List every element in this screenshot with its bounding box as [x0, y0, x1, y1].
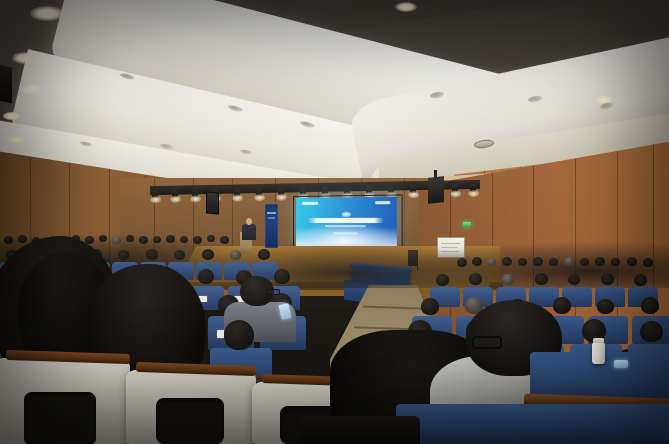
line-array-speaker-right — [428, 176, 444, 204]
ceiling-downlight — [30, 6, 64, 21]
foreground-seat-cutout — [156, 398, 224, 444]
ceiling-downlight — [395, 2, 417, 12]
ceiling-projector-box — [0, 65, 12, 104]
ceiling-downlight — [12, 52, 38, 64]
ceiling-downlight — [3, 112, 20, 120]
presenter-head — [246, 218, 252, 225]
auditorium-photo: Conference hall auditorium during a pres… — [0, 0, 669, 444]
line-array-speaker-left — [206, 191, 219, 214]
exit-sign-icon — [463, 222, 471, 227]
thermos-cap — [593, 338, 604, 343]
foreground-seat-back-blue[interactable] — [396, 404, 669, 444]
eyeglasses-icon — [266, 289, 280, 295]
smartphone — [614, 360, 628, 368]
ceiling-downlight — [20, 84, 42, 94]
thermos-flask[interactable] — [592, 342, 605, 364]
ceiling-downlight — [8, 136, 23, 143]
foreground-seat-cutout — [24, 392, 96, 444]
foreground-seat-dark-right — [300, 416, 420, 444]
eyeglasses-icon — [472, 336, 502, 349]
